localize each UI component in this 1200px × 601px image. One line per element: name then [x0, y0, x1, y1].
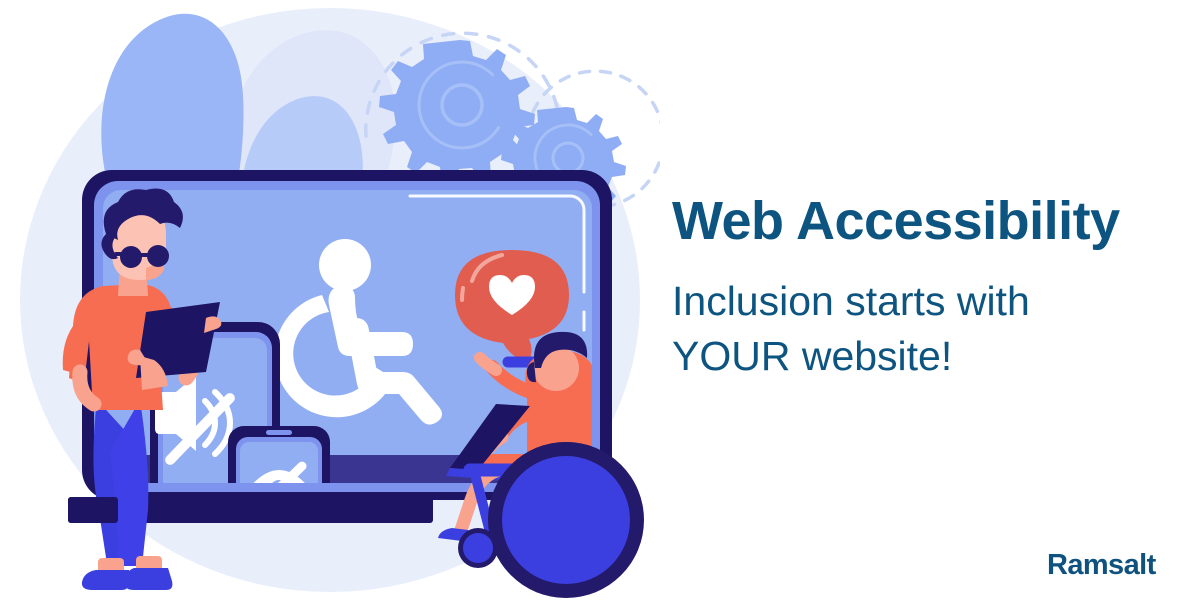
banner-copy: Web Accessibility Inclusion starts with …	[672, 190, 1172, 384]
web-accessibility-banner: Web Accessibility Inclusion starts with …	[0, 0, 1200, 601]
monitor-base-front	[68, 497, 118, 523]
speech-bubble-shine2	[462, 288, 463, 300]
illustration-svg	[0, 0, 660, 601]
accessibility-illustration	[0, 0, 660, 601]
ramsalt-logo[interactable]: Ramsalt	[1047, 549, 1156, 581]
standing-shoe-right	[124, 568, 172, 590]
person-in-wheelchair-overlap	[438, 442, 644, 598]
page-subtitle: Inclusion starts with YOUR website!	[672, 252, 1112, 384]
wheelchair-large-wheel-hub	[502, 456, 630, 584]
standing-shoe-left	[82, 570, 129, 590]
page-title: Web Accessibility	[672, 190, 1172, 252]
wheelchair-caster-hub	[463, 533, 493, 563]
